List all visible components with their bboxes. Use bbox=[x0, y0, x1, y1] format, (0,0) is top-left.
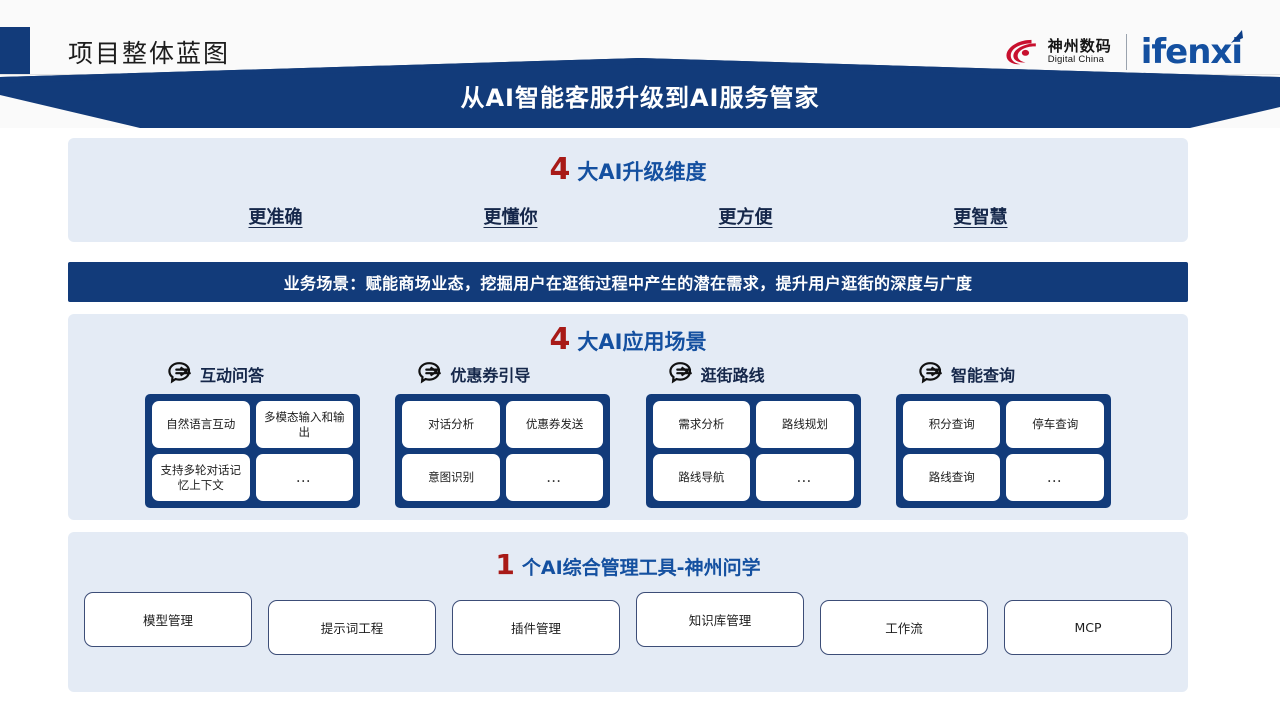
chat-bubble-icon bbox=[167, 361, 193, 387]
scenario-title-row-3: 智能查询 bbox=[896, 358, 1111, 390]
ai-scenarios-panel: 4 大AI应用场景 互动问答 自然语言互动 多模态输入和输出 支持多轮对话记忆上… bbox=[68, 314, 1188, 520]
scenarios-heading: 4 大AI应用场景 bbox=[68, 314, 1188, 357]
scenario-title-0: 互动问答 bbox=[200, 362, 264, 386]
dimension-item-2[interactable]: 更方便 bbox=[719, 203, 773, 229]
ai-dimensions-panel: 4 大AI升级维度 更准确 更懂你 更方便 更智慧 bbox=[68, 138, 1188, 242]
chat-bubble-icon bbox=[417, 361, 443, 387]
tool-item-prompt-engineering[interactable]: 提示词工程 bbox=[268, 600, 436, 655]
scenario-title-1: 优惠券引导 bbox=[450, 362, 530, 386]
scenario-title-3: 智能查询 bbox=[951, 362, 1015, 386]
scenario-group-1[interactable]: 优惠券引导 对话分析 优惠券发送 意图识别 … bbox=[395, 358, 610, 518]
scenario-chip[interactable]: 支持多轮对话记忆上下文 bbox=[152, 454, 250, 501]
scenarios-count: 4 bbox=[550, 322, 571, 357]
scenario-group-2[interactable]: 逛街路线 需求分析 路线规划 路线导航 … bbox=[646, 358, 861, 518]
scenario-group-3[interactable]: 智能查询 积分查询 停车查询 路线查询 … bbox=[896, 358, 1111, 518]
scenario-title-row-0: 互动问答 bbox=[145, 358, 360, 390]
scenario-chip[interactable]: … bbox=[1006, 454, 1104, 501]
scenario-chip[interactable]: 积分查询 bbox=[903, 401, 1001, 448]
dimensions-heading: 4 大AI升级维度 bbox=[68, 138, 1188, 187]
tool-item-workflow[interactable]: 工作流 bbox=[820, 600, 988, 655]
scenario-chip[interactable]: … bbox=[756, 454, 854, 501]
scenario-chips-2: 需求分析 路线规划 路线导航 … bbox=[646, 394, 861, 508]
scenario-chips-1: 对话分析 优惠券发送 意图识别 … bbox=[395, 394, 610, 508]
business-scenario-bar: 业务场景：赋能商场业态，挖掘用户在逛街过程中产生的潜在需求，提升用户逛街的深度与… bbox=[68, 262, 1188, 302]
tools-count: 1 bbox=[495, 548, 514, 581]
scenario-chips-0: 自然语言互动 多模态输入和输出 支持多轮对话记忆上下文 … bbox=[145, 394, 360, 508]
scenario-chip[interactable]: 优惠券发送 bbox=[506, 401, 604, 448]
tool-list: 模型管理 提示词工程 插件管理 知识库管理 工作流 MCP bbox=[68, 592, 1188, 655]
ifenxi-tick-icon bbox=[1230, 29, 1244, 45]
scenario-group-0[interactable]: 互动问答 自然语言互动 多模态输入和输出 支持多轮对话记忆上下文 … bbox=[145, 358, 360, 518]
ai-tool-panel: 1 个AI综合管理工具-神州问学 模型管理 提示词工程 插件管理 知识库管理 工… bbox=[68, 532, 1188, 692]
slide-header: 项目整体蓝图 神州数码 Digital China ifenxi bbox=[0, 0, 1280, 128]
tool-item-model-management[interactable]: 模型管理 bbox=[84, 592, 252, 647]
tool-item-plugin-management[interactable]: 插件管理 bbox=[452, 600, 620, 655]
chat-bubble-icon bbox=[668, 361, 694, 387]
scenario-chip[interactable]: 对话分析 bbox=[402, 401, 500, 448]
tool-item-mcp[interactable]: MCP bbox=[1004, 600, 1172, 655]
scenario-chip[interactable]: 路线导航 bbox=[653, 454, 751, 501]
scenarios-heading-text: 大AI应用场景 bbox=[577, 326, 706, 356]
scenario-chip[interactable]: … bbox=[506, 454, 604, 501]
scenario-title-row-1: 优惠券引导 bbox=[395, 358, 610, 390]
scenario-groups: 互动问答 自然语言互动 多模态输入和输出 支持多轮对话记忆上下文 … 优惠券引导… bbox=[68, 358, 1188, 518]
business-scenario-text: 业务场景：赋能商场业态，挖掘用户在逛街过程中产生的潜在需求，提升用户逛街的深度与… bbox=[284, 270, 973, 294]
logo-cn-text: 神州数码 bbox=[1048, 39, 1112, 55]
scenario-chip[interactable]: 自然语言互动 bbox=[152, 401, 250, 448]
scenario-chip[interactable]: 多模态输入和输出 bbox=[256, 401, 354, 448]
dimensions-list: 更准确 更懂你 更方便 更智慧 bbox=[68, 187, 1188, 229]
dimension-item-0[interactable]: 更准确 bbox=[249, 203, 303, 229]
scenario-title-2: 逛街路线 bbox=[701, 362, 765, 386]
tools-heading-text: 个AI综合管理工具-神州问学 bbox=[522, 553, 761, 580]
dimensions-count: 4 bbox=[550, 152, 571, 187]
tool-item-knowledge-base[interactable]: 知识库管理 bbox=[636, 592, 804, 647]
scenario-chip[interactable]: 意图识别 bbox=[402, 454, 500, 501]
banner-title: 从AI智能客服升级到AI服务管家 bbox=[0, 78, 1280, 113]
scenario-chips-3: 积分查询 停车查询 路线查询 … bbox=[896, 394, 1111, 508]
chat-bubble-icon bbox=[918, 361, 944, 387]
scenario-chip[interactable]: 路线查询 bbox=[903, 454, 1001, 501]
dimension-item-1[interactable]: 更懂你 bbox=[484, 203, 538, 229]
scenario-chip[interactable]: … bbox=[256, 454, 354, 501]
tools-heading: 1 个AI综合管理工具-神州问学 bbox=[68, 532, 1188, 581]
dimension-item-3[interactable]: 更智慧 bbox=[954, 203, 1008, 229]
scenario-chip[interactable]: 需求分析 bbox=[653, 401, 751, 448]
scenario-chip[interactable]: 路线规划 bbox=[756, 401, 854, 448]
dimensions-heading-text: 大AI升级维度 bbox=[577, 156, 706, 186]
scenario-title-row-2: 逛街路线 bbox=[646, 358, 861, 390]
scenario-chip[interactable]: 停车查询 bbox=[1006, 401, 1104, 448]
